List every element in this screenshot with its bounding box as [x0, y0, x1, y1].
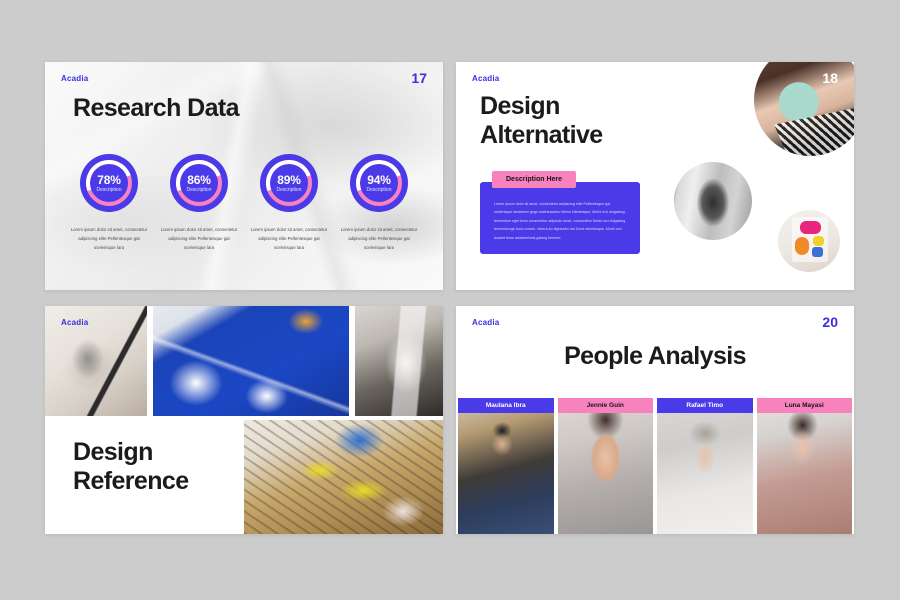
stat-item[interactable]: 89% Description Lorem ipsum dolor sit am… — [249, 154, 329, 252]
page-title: People Analysis — [456, 342, 854, 371]
brand-logo: Acadia — [61, 74, 88, 83]
person-card[interactable]: Maulana Ibra — [458, 398, 554, 534]
paint-blob-blue — [812, 247, 823, 257]
slide-deck: Acadia 17 Research Data 78% Description … — [0, 0, 900, 600]
slide-people-analysis[interactable]: Acadia 20 People Analysis Maulana Ibra J… — [456, 306, 854, 534]
person-photo — [657, 398, 753, 534]
description-body-text: Lorem ipsum dolor sit amet, consectetur … — [494, 200, 626, 242]
stat-caption: Lorem ipsum dolor sit amet, consectetur … — [249, 225, 329, 252]
description-card: Description Here Lorem ipsum dolor sit a… — [480, 182, 640, 254]
brand-logo: Acadia — [472, 318, 499, 327]
stat-percent: 78% — [96, 174, 121, 186]
stat-label: Description — [366, 188, 391, 193]
paint-blob-orange — [795, 237, 809, 254]
donut-chart-icon: 89% Description — [260, 154, 318, 212]
person-name-label: Jennie Guin — [558, 398, 654, 413]
stat-caption: Lorem ipsum dolor sit amet, consectetur … — [159, 225, 239, 252]
slide-design-reference[interactable]: Acadia Design Reference — [45, 306, 443, 534]
donut-center-text: 86% Description — [186, 174, 211, 193]
donut-chart-icon: 94% Description — [350, 154, 408, 212]
person-name-label: Luna Mayasi — [757, 398, 853, 413]
people-card-row: Maulana Ibra Jennie Guin Rafael Timo Lun… — [456, 398, 854, 534]
photo-blue-printmaking — [153, 306, 349, 416]
stat-item[interactable]: 94% Description Lorem ipsum dolor sit am… — [339, 154, 419, 252]
page-title-line-2: Alternative — [480, 121, 603, 150]
slide-research-data[interactable]: Acadia 17 Research Data 78% Description … — [45, 62, 443, 290]
donut-center-text: 78% Description — [96, 174, 121, 193]
stat-label: Description — [96, 188, 121, 193]
donut-center-text: 89% Description — [276, 174, 301, 193]
person-photo — [458, 398, 554, 534]
brand-logo: Acadia — [61, 318, 88, 327]
page-title: Design Reference — [73, 438, 189, 496]
donut-center-text: 94% Description — [366, 174, 391, 193]
stat-percent: 86% — [186, 174, 211, 186]
page-title-line-1: Design — [73, 438, 189, 467]
photo-paint-artwork — [778, 210, 840, 272]
person-photo — [558, 398, 654, 534]
stat-label: Description — [276, 188, 301, 193]
person-name-label: Rafael Timo — [657, 398, 753, 413]
page-number: 17 — [411, 70, 427, 86]
donut-chart-icon: 86% Description — [170, 154, 228, 212]
page-title-line-2: Reference — [73, 467, 189, 496]
paint-blob-pink — [800, 221, 821, 233]
person-card[interactable]: Luna Mayasi — [757, 398, 853, 534]
donut-chart-icon: 78% Description — [80, 154, 138, 212]
page-number: 18 — [822, 70, 838, 86]
stat-caption: Lorem ipsum dolor sit amet, consectetur … — [339, 225, 419, 252]
stat-caption: Lorem ipsum dolor sit amet, consectetur … — [69, 225, 149, 252]
stat-item[interactable]: 78% Description Lorem ipsum dolor sit am… — [69, 154, 149, 252]
stat-percent: 94% — [366, 174, 391, 186]
stat-percent: 89% — [276, 174, 301, 186]
description-badge: Description Here — [492, 171, 576, 188]
photo-tablet-drawing — [754, 62, 854, 156]
brand-logo: Acadia — [472, 74, 499, 83]
stat-label: Description — [186, 188, 211, 193]
page-title: Research Data — [73, 94, 239, 123]
person-photo — [757, 398, 853, 534]
person-card[interactable]: Rafael Timo — [657, 398, 753, 534]
paint-blob-yellow — [813, 236, 824, 246]
photo-card-samples — [355, 306, 443, 416]
stat-donut-row: 78% Description Lorem ipsum dolor sit am… — [69, 154, 419, 252]
stat-item[interactable]: 86% Description Lorem ipsum dolor sit am… — [159, 154, 239, 252]
page-title-line-1: Design — [480, 92, 603, 121]
slide-design-alternative[interactable]: Acadia 18 Design Alternative Description… — [456, 62, 854, 290]
page-number: 20 — [822, 314, 838, 330]
page-title: Design Alternative — [480, 92, 603, 150]
photo-paper-craft — [244, 420, 443, 534]
person-name-label: Maulana Ibra — [458, 398, 554, 413]
photo-sculpture — [674, 162, 752, 240]
person-card[interactable]: Jennie Guin — [558, 398, 654, 534]
